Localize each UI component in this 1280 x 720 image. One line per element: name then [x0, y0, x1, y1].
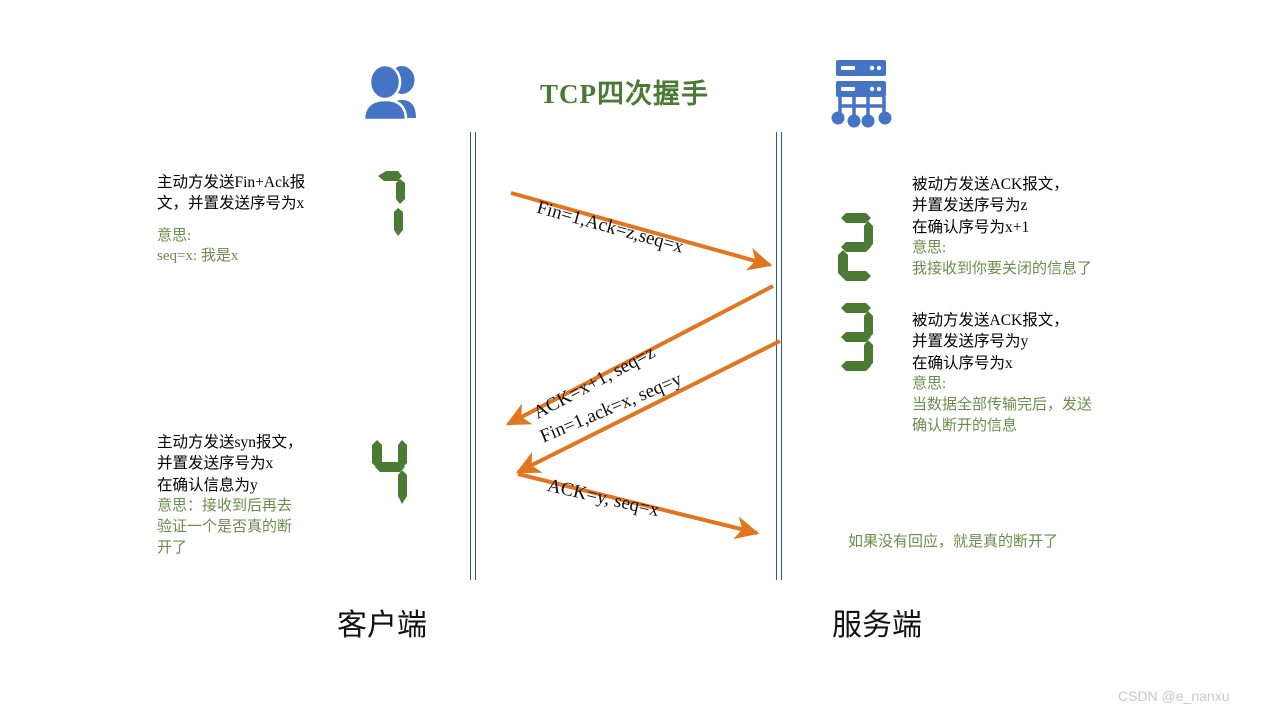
server-rack-icon: [826, 56, 896, 130]
client-lifeline: [470, 132, 476, 580]
watermark: CSDN @e_nanxu: [1118, 688, 1230, 704]
tcp-four-way-handshake-diagram: TCP四次握手: [0, 0, 1280, 720]
step-3-main: 被动方发送ACK报文， 并置发送序号为y 在确认序号为x: [912, 310, 1182, 374]
step-3-note: 意思: 当数据全部传输完后，发送 确认断开的信息: [912, 374, 1182, 436]
server-label: 服务端: [832, 600, 922, 644]
users-icon: [358, 58, 430, 130]
step-number-4: [366, 432, 412, 517]
step-number-2: [832, 212, 878, 297]
step-2-note: 意思: 我接收到你要关闭的信息了: [912, 238, 1172, 279]
step-1-description: 主动方发送Fin+Ack报 文，并置发送序号为x 意思: seq=x: 我是x: [157, 172, 357, 267]
client-label: 客户端: [337, 600, 427, 644]
step-2-main: 被动方发送ACK报文， 并置发送序号为z 在确认序号为x+1: [912, 174, 1172, 238]
step-4-main: 主动方发送syn报文， 并置发送序号为x 在确认信息为y: [157, 432, 357, 496]
step-3-description: 被动方发送ACK报文， 并置发送序号为y 在确认序号为x 意思: 当数据全部传输…: [912, 310, 1182, 436]
step-4-description: 主动方发送syn报文， 并置发送序号为x 在确认信息为y 意思：接收到后再去 验…: [157, 432, 357, 558]
spacer: [157, 215, 357, 226]
step-number-1: [368, 168, 412, 249]
step-1-note: 意思: seq=x: 我是x: [157, 226, 357, 267]
message-label-4: ACK=y, seq=x: [545, 475, 661, 522]
step-4-note: 意思：接收到后再去 验证一个是否真的断 开了: [157, 496, 357, 558]
step-1-main: 主动方发送Fin+Ack报 文，并置发送序号为x: [157, 172, 357, 215]
page-title: TCP四次握手: [540, 72, 800, 111]
step-2-description: 被动方发送ACK报文， 并置发送序号为z 在确认序号为x+1 意思: 我接收到你…: [912, 174, 1172, 280]
closing-note: 如果没有回应，就是真的断开了: [848, 530, 1058, 551]
message-label-1: Fin=1,Ack=z,seq=x: [534, 197, 686, 259]
step-number-3: [832, 302, 878, 387]
server-lifeline: [776, 132, 782, 580]
